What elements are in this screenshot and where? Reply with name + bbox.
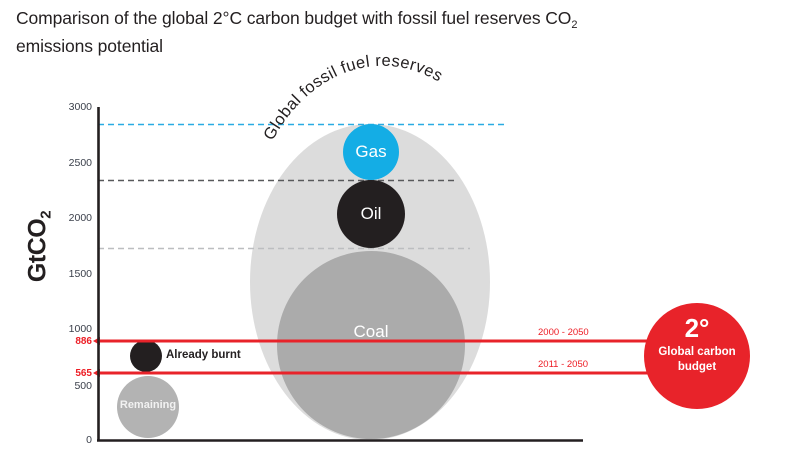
already-burnt-bubble	[130, 340, 162, 372]
ytick-0: 0	[50, 434, 92, 446]
period-2011-2050-label: 2011 - 2050	[538, 359, 588, 370]
chart-svg: Global fossil fuel reserves	[0, 0, 793, 453]
y-axis-title-main: GtCO	[24, 219, 52, 282]
ytick-886: 886	[50, 336, 92, 347]
ytick-3000: 3000	[50, 101, 92, 113]
ytick-565: 565	[50, 368, 92, 379]
y-axis-title: GtCO2	[24, 187, 53, 307]
ytick-2500: 2500	[50, 157, 92, 169]
carbon-budget-circle	[644, 303, 750, 409]
infographic-page: Comparison of the global 2°C carbon budg…	[0, 0, 793, 453]
ytick-500: 500	[50, 380, 92, 392]
oil-bubble	[337, 180, 405, 248]
coal-bubble	[277, 251, 465, 439]
chart-canvas: Global fossil fuel reserves GtCO2 3000 2…	[0, 0, 793, 453]
ytick-1500: 1500	[50, 268, 92, 280]
ytick-1000: 1000	[50, 323, 92, 335]
ytick-2000: 2000	[50, 212, 92, 224]
already-burnt-label: Already burnt	[166, 349, 241, 361]
gas-bubble	[343, 124, 399, 180]
remaining-bubble	[117, 376, 179, 438]
period-2000-2050-label: 2000 - 2050	[538, 327, 589, 338]
